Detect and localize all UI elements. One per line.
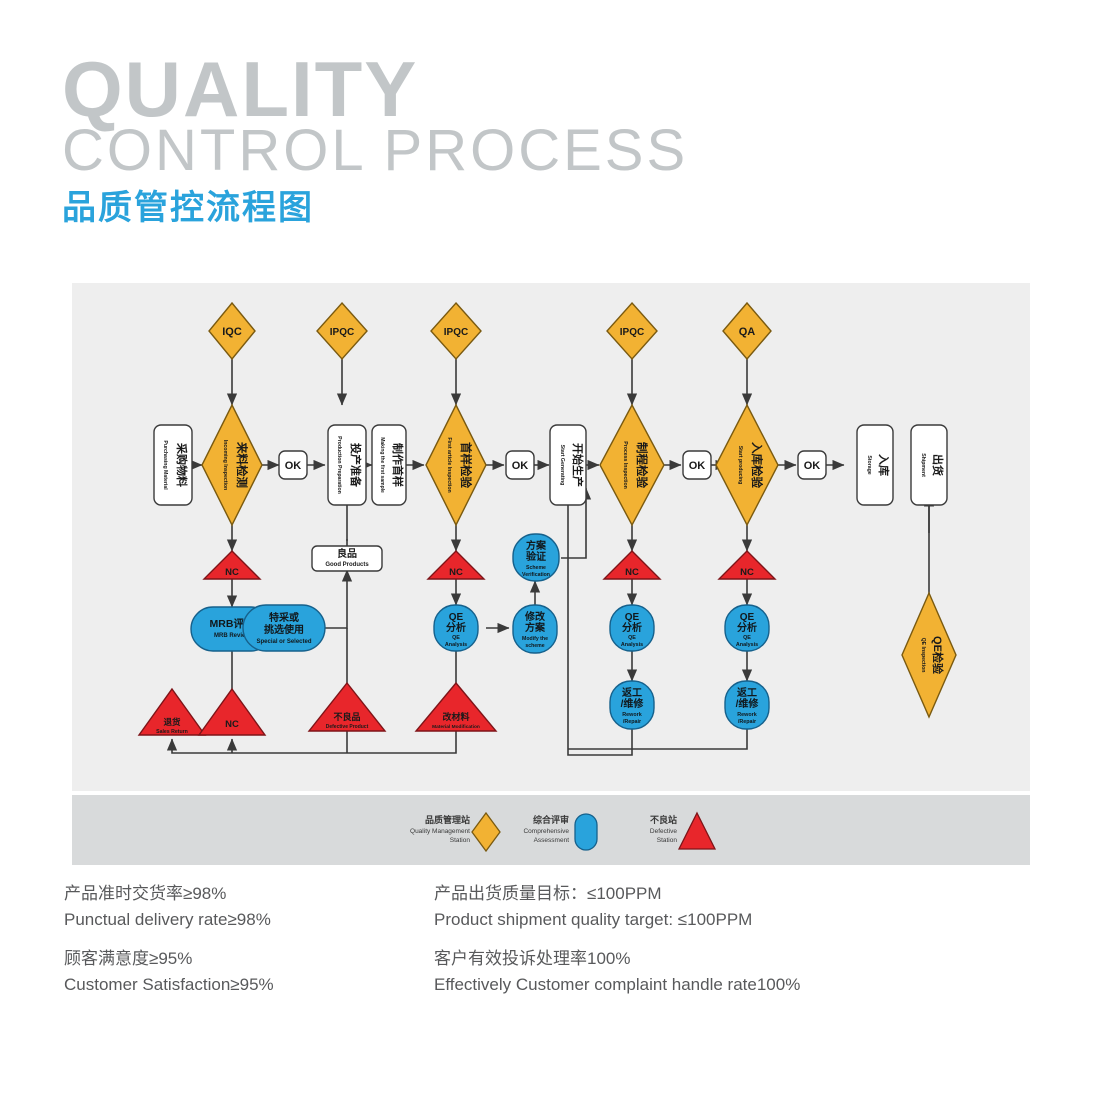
flow-node-storage-inspection[interactable]: 入库检验 Start producing: [716, 405, 778, 525]
node-label-zh: 不良品: [333, 711, 360, 722]
node-label-zh-2: 挑选使用: [264, 623, 304, 636]
station-label: IPQC: [620, 327, 644, 338]
node-label-zh: QE检验: [931, 636, 945, 675]
node-label-zh: 采购物料: [175, 442, 189, 487]
node-label-zh: 首样检验: [459, 442, 473, 488]
node-label-en-2: Analysis: [621, 642, 643, 648]
node-label-zh: 制程检验: [635, 442, 649, 488]
node-label-en-2: /Repair: [738, 719, 757, 725]
node-label-zh-2: 分析: [737, 621, 757, 634]
flow-node-incoming-inspection[interactable]: 来料检测 Incoming Inspection: [202, 405, 262, 525]
title-line-chinese: 品质管控流程图: [62, 188, 688, 229]
kpi-complaint-handle-rate: 客户有效投诉处理率100% Effectively Customer compl…: [434, 946, 800, 997]
node-label-zh-1: 返工: [737, 686, 757, 699]
node-label-en: Incoming Inspection: [222, 440, 228, 490]
node-label-en: Process Inspection: [622, 441, 628, 489]
legend-label-en-1: Defective: [650, 828, 677, 835]
node-label-zh-1: 方案: [526, 539, 547, 552]
kpi-label-zh: 产品准时交货率≥98%: [64, 881, 271, 907]
node-label-en: Start producing: [737, 446, 743, 485]
flowchart-canvas: IQC IPQC IPQC IPQC QA 采购物料 Purchasing Ma…: [72, 283, 1030, 791]
node-label-zh: 出货: [931, 454, 945, 476]
node-label-zh: 改材料: [442, 711, 469, 722]
kpi-punctual-delivery: 产品准时交货率≥98% Punctual delivery rate≥98%: [64, 881, 271, 932]
kpi-label-en: Product shipment quality target: ≤100PPM: [434, 907, 752, 933]
kpi-label-zh: 产品出货质量目标：≤100PPM: [434, 881, 752, 907]
flow-node-making-first-sample[interactable]: 制作首样 Making the first sample: [372, 425, 406, 505]
station-diamond-qa[interactable]: QA: [723, 303, 771, 359]
node-label-en-2: Analysis: [736, 642, 758, 648]
node-label-ok: OK: [804, 460, 821, 472]
assessment-node-rework-repair-1[interactable]: 返工 /维修 Rework /Repair: [610, 681, 654, 729]
node-label-en-1: Modify the: [522, 636, 548, 642]
node-label-en: Storage: [866, 455, 872, 474]
flow-node-ok-1[interactable]: OK: [279, 451, 307, 479]
node-label-zh-2: 分析: [622, 621, 642, 634]
legend-ellipse-icon: [575, 814, 597, 850]
assessment-node-rework-repair-2[interactable]: 返工 /维修 Rework /Repair: [725, 681, 769, 729]
node-label-zh-1: 特采或: [269, 611, 299, 624]
node-label-zh-1: 返工: [622, 686, 642, 699]
legend-label-zh: 综合评审: [533, 814, 569, 825]
node-label-zh: 入库检验: [750, 442, 764, 488]
node-label-en: Shipment: [920, 453, 926, 477]
legend-label-en-2: Station: [450, 837, 471, 844]
flow-node-process-inspection[interactable]: 制程检验 Process Inspection: [600, 405, 664, 525]
node-label-en: Material Modification: [432, 724, 480, 730]
node-label-nc: NC: [449, 567, 463, 578]
node-label-nc: NC: [225, 567, 239, 578]
station-label: QA: [739, 326, 756, 338]
legend-item-quality-management-station: 品质管理站 Quality Management Station: [410, 813, 500, 851]
defect-node-nc-bottom[interactable]: NC: [199, 689, 265, 735]
node-label-en: Purchasing Material: [162, 440, 168, 490]
node-label-en: Making the first sample: [379, 437, 385, 493]
defect-node-material-modification[interactable]: 改材料 Material Modification: [416, 683, 496, 731]
station-diamond-ipqc-2[interactable]: IPQC: [431, 303, 481, 359]
legend-diamond-icon: [472, 813, 500, 851]
node-label-zh-1: QE: [625, 612, 640, 623]
node-label-en-1: Rework: [737, 712, 756, 718]
node-label-ok: OK: [285, 460, 302, 472]
node-label-zh: 退货: [163, 717, 181, 727]
node-label-en-2: Verification: [522, 572, 550, 578]
node-label-zh: 入库: [877, 454, 891, 476]
flow-node-ok-2[interactable]: OK: [506, 451, 534, 479]
kpi-label-en: Effectively Customer complaint handle ra…: [434, 972, 800, 998]
station-label: IPQC: [330, 327, 354, 338]
flow-node-storage[interactable]: 入库 Storage: [857, 425, 893, 505]
station-label: IQC: [222, 326, 242, 338]
node-label-en: QE Inspection: [920, 638, 926, 673]
legend-triangle-icon: [679, 813, 715, 849]
legend-content: 品质管理站 Quality Management Station 综合评审 Co…: [72, 795, 1030, 865]
node-label-en: First article Inspection: [446, 437, 452, 492]
flow-node-first-article-inspection[interactable]: 首样检验 First article Inspection: [426, 405, 486, 525]
node-label-ok: OK: [512, 460, 529, 472]
node-label-zh-2: /维修: [621, 697, 645, 710]
flow-node-ok-3[interactable]: OK: [683, 451, 711, 479]
flow-node-ok-4[interactable]: OK: [798, 451, 826, 479]
flow-node-qe-inspection[interactable]: QE检验 QE Inspection: [902, 593, 956, 717]
node-label-zh-1: QE: [740, 612, 755, 623]
legend-label-zh: 不良站: [650, 814, 677, 825]
quality-control-process-page: QUALITY CONTROL PROCESS 品质管控流程图: [0, 0, 1100, 1100]
legend-label-zh: 品质管理站: [425, 814, 470, 825]
node-label-en-1: Rework: [622, 712, 641, 718]
defect-node-sales-return[interactable]: 退货 Sales Return: [139, 689, 205, 735]
node-label-en: Defective Product: [326, 724, 369, 730]
node-label-en: Special or Selected: [256, 639, 311, 645]
node-label-en-1: QE: [743, 635, 751, 641]
legend-label-en-2: Station: [657, 837, 678, 844]
node-label-zh-2: 方案: [525, 621, 546, 634]
assessment-node-scheme-verification[interactable]: 方案 验证 Scheme Verification: [513, 534, 559, 581]
defect-node-nc-process[interactable]: NC: [604, 551, 660, 579]
legend-label-en-1: Quality Management: [410, 828, 470, 835]
node-label-nc: NC: [740, 567, 754, 578]
node-label-zh: 来料检测: [235, 441, 249, 488]
legend-label-en-1: Comprehensive: [523, 828, 569, 835]
node-label-en-1: QE: [452, 635, 460, 641]
node-label-en-2: scheme: [525, 643, 544, 649]
title-line-control-process: CONTROL PROCESS: [62, 121, 688, 182]
node-label-en-2: Analysis: [445, 642, 467, 648]
node-label-zh-2: 验证: [526, 550, 546, 563]
kpi-label-zh: 顾客满意度≥95%: [64, 946, 274, 972]
station-diamond-iqc[interactable]: IQC: [209, 303, 255, 359]
page-header: QUALITY CONTROL PROCESS 品质管控流程图: [62, 52, 688, 229]
assessment-node-modify-scheme[interactable]: 修改 方案 Modify the scheme: [513, 605, 557, 653]
node-label-en-1: Scheme: [526, 565, 546, 571]
node-label-zh: 良品: [337, 547, 357, 560]
node-label-zh-1: QE: [449, 612, 464, 623]
node-label-en: Start Generating: [559, 445, 565, 486]
node-label-zh: 投产准备: [349, 443, 363, 488]
station-diamond-ipqc-3[interactable]: IPQC: [607, 303, 657, 359]
node-label-en: Sales Return: [156, 729, 188, 735]
kpi-customer-satisfaction: 顾客满意度≥95% Customer Satisfaction≥95%: [64, 946, 274, 997]
node-label-en: Good Products: [325, 562, 369, 568]
node-label-nc: NC: [625, 567, 639, 578]
assessment-node-special-or-selected[interactable]: 特采或 挑选使用 Special or Selected: [243, 605, 325, 651]
flow-node-good-products[interactable]: 良品 Good Products: [312, 546, 382, 571]
defect-node-defective-product[interactable]: 不良品 Defective Product: [309, 683, 385, 731]
node-label-en: Production Preparation: [336, 436, 342, 494]
node-label-zh-2: 分析: [446, 621, 466, 634]
node-label-zh: 开始生产: [571, 443, 585, 487]
station-label: IPQC: [444, 327, 468, 338]
flow-node-shipment[interactable]: 出货 Shipment: [911, 425, 947, 505]
node-label-zh-1: 修改: [524, 610, 546, 623]
kpi-shipment-quality: 产品出货质量目标：≤100PPM Product shipment qualit…: [434, 881, 752, 932]
kpi-label-en: Punctual delivery rate≥98%: [64, 907, 271, 933]
flow-node-start-production[interactable]: 开始生产 Start Generating: [550, 425, 586, 505]
flowchart-svg: IQC IPQC IPQC IPQC QA 采购物料 Purchasing Ma…: [72, 283, 1030, 791]
legend-label-en-2: Assessment: [534, 837, 570, 844]
node-label-nc: NC: [225, 719, 239, 730]
assessment-node-qe-analysis-2[interactable]: QE 分析 QE Analysis: [610, 605, 654, 651]
defect-node-nc-incoming[interactable]: NC: [204, 551, 260, 579]
kpi-label-en: Customer Satisfaction≥95%: [64, 972, 274, 998]
station-diamond-ipqc-1[interactable]: IPQC: [317, 303, 367, 359]
legend-item-comprehensive-assessment: 综合评审 Comprehensive Assessment: [523, 814, 597, 850]
legend-item-defective-station: 不良站 Defective Station: [650, 813, 715, 849]
assessment-node-qe-analysis-1[interactable]: QE 分析 QE Analysis: [434, 605, 478, 651]
flow-node-production-preparation[interactable]: 投产准备 Production Preparation: [328, 425, 366, 505]
node-label-en-1: QE: [628, 635, 636, 641]
title-line-quality: QUALITY: [62, 52, 688, 127]
defect-node-nc-storage[interactable]: NC: [719, 551, 775, 579]
node-label-zh: 制作首样: [391, 443, 405, 487]
node-label-zh-2: /维修: [736, 697, 760, 710]
node-label-ok: OK: [689, 460, 706, 472]
kpi-label-zh: 客户有效投诉处理率100%: [434, 946, 800, 972]
defect-node-nc-first-article[interactable]: NC: [428, 551, 484, 579]
flow-node-purchasing[interactable]: 采购物料 Purchasing Material: [154, 425, 192, 505]
node-label-en-2: /Repair: [623, 719, 642, 725]
assessment-node-qe-analysis-3[interactable]: QE 分析 QE Analysis: [725, 605, 769, 651]
